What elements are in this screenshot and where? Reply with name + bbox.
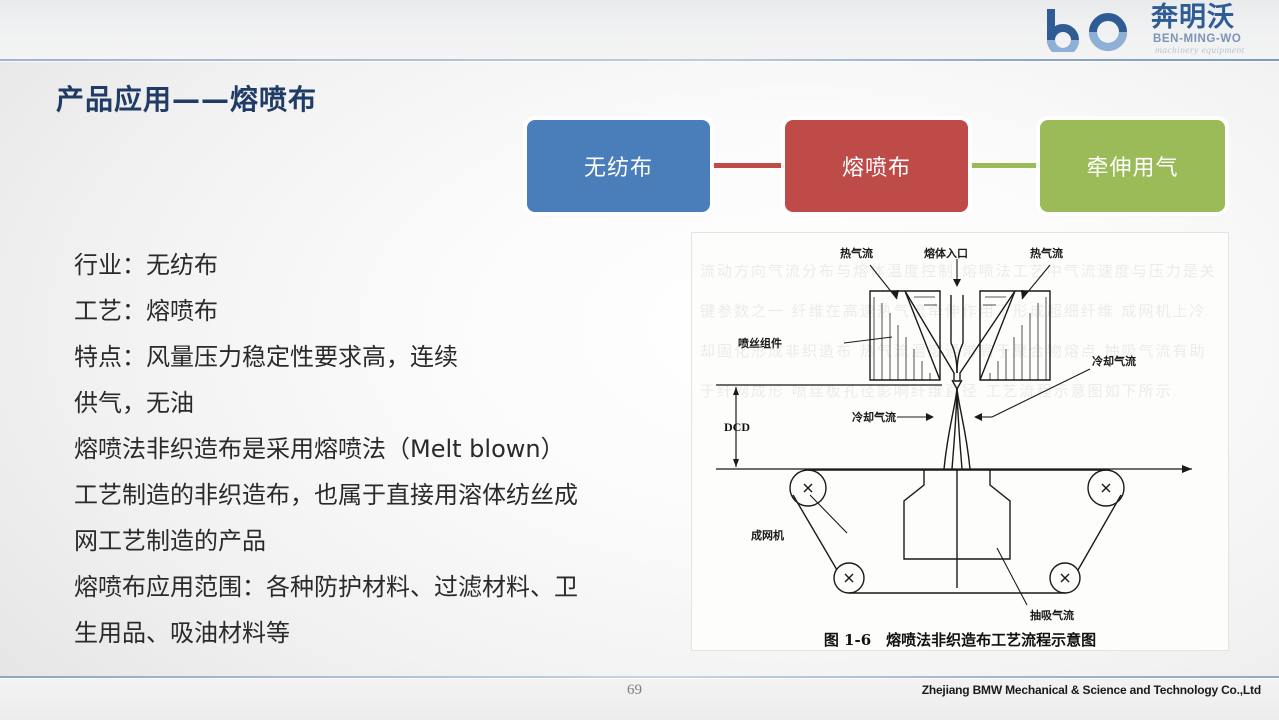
slide-canvas: 奔明沃 BEN-MING-WO machinery equipment 产品应用… xyxy=(0,0,1279,720)
logo-tagline: machinery equipment xyxy=(1155,46,1245,56)
figure-caption: 图 1-6 熔喷法非织造布工艺流程示意图 xyxy=(824,631,1096,649)
figure-label-suction-air: 抽吸气流 xyxy=(1030,608,1074,622)
flow-box-drawing-air[interactable]: 牵伸用气 xyxy=(1040,120,1225,212)
body-line: 网工艺制造的产品 xyxy=(74,518,674,564)
flow-box-meltblown[interactable]: 熔喷布 xyxy=(785,120,968,212)
process-flow-figure-image: 流动方向气流分布与熔体温度控制 熔喷法工艺中气流速度与压力是关键参数之一 纤维在… xyxy=(692,233,1228,650)
figure-label-spinneret: 喷丝组件 xyxy=(738,336,782,350)
figure-label-hot-air-left: 热气流 xyxy=(840,246,873,260)
figure-label-web-former: 成网机 xyxy=(751,528,784,542)
figure-label-cooling-air-center: 冷却气流 xyxy=(852,410,896,424)
logo-name-cn: 奔明沃 xyxy=(1151,3,1235,33)
flow-box-nonwoven[interactable]: 无纺布 xyxy=(527,120,710,212)
figure-line-drawing: 热气流 熔体入口 热气流 喷丝组件 冷却气流 冷却气流 DCD 成网机 抽吸气流… xyxy=(692,233,1228,650)
body-line: 熔喷法非织造布是采用熔喷法（Melt blown） xyxy=(74,426,674,472)
page-number: 69 xyxy=(627,682,642,699)
page-title: 产品应用——熔喷布 xyxy=(56,78,317,118)
bo-monogram-icon xyxy=(1045,6,1149,52)
figure-label-melt-inlet: 熔体入口 xyxy=(924,246,968,260)
flow-connector-2 xyxy=(970,163,1039,168)
body-text-block: 行业：无纺布 工艺：熔喷布 特点：风量压力稳定性要求高，连续 供气，无油 熔喷法… xyxy=(74,242,674,656)
company-logo: 奔明沃 BEN-MING-WO machinery equipment xyxy=(1039,2,1271,58)
body-line: 工艺：熔喷布 xyxy=(74,288,674,334)
body-line: 行业：无纺布 xyxy=(74,242,674,288)
body-line: 特点：风量压力稳定性要求高，连续 xyxy=(74,334,674,380)
figure-label-cooling-air-right: 冷却气流 xyxy=(1092,354,1136,368)
logo-name-en: BEN-MING-WO xyxy=(1153,33,1241,45)
flow-connector-1 xyxy=(712,163,784,168)
process-flow-diagram: 无纺布 熔喷布 牵伸用气 xyxy=(527,118,1227,218)
header-divider-highlight xyxy=(0,61,1279,62)
body-line: 熔喷布应用范围：各种防护材料、过滤材料、卫 xyxy=(74,564,674,610)
body-line: 生用品、吸油材料等 xyxy=(74,610,674,656)
figure-label-hot-air-right: 热气流 xyxy=(1030,246,1063,260)
body-line: 供气，无油 xyxy=(74,380,674,426)
figure-label-dcd: DCD xyxy=(724,420,750,434)
footer-company-name: Zhejiang BMW Mechanical & Science and Te… xyxy=(922,683,1261,697)
body-line: 工艺制造的非织造布，也属于直接用溶体纺丝成 xyxy=(74,472,674,518)
